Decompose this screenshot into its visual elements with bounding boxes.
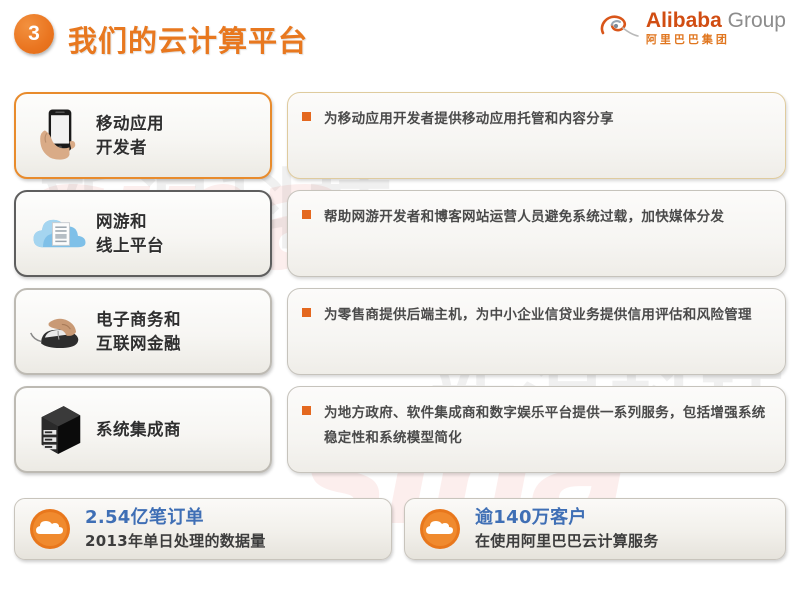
description-text: 为零售商提供后端主机，为中小企业信贷业务提供信用评估和风险管理 [324,303,752,328]
cloud-document-icon [24,198,96,270]
bullet-square-icon [302,112,311,121]
page-title: 我们的云计算平台 [68,18,308,60]
description-card[interactable]: 为地方政府、软件集成商和数字娱乐平台提供一系列服务，包括增强系统稳定性和系统模型… [287,386,786,473]
description-card[interactable]: 为零售商提供后端主机，为中小企业信贷业务提供信用评估和风险管理 [287,288,786,375]
server-rack-icon [24,394,96,466]
segment-row: 网游和 线上平台 帮助网游开发者和博客网站运营人员避免系统过载，加快媒体分发 [0,190,800,285]
category-card-online-games-platforms[interactable]: 网游和 线上平台 [14,190,272,277]
alibaba-group-logo: Alibaba Group 阿里巴巴集团 [597,10,786,45]
category-label: 移动应用 开发者 [96,112,164,160]
brand-name-chinese: 阿里巴巴集团 [646,34,786,45]
category-card-ecommerce-internet-finance[interactable]: 电子商务和 互联网金融 [14,288,272,375]
category-card-mobile-app-developers[interactable]: 移动应用 开发者 [14,92,272,179]
stat-subline: 在使用阿里巴巴云计算服务 [475,532,659,552]
stat-headline: 2.54亿笔订单 [85,507,266,530]
orange-cloud-badge-icon [417,506,463,552]
description-card[interactable]: 为移动应用开发者提供移动应用托管和内容分享 [287,92,786,179]
stat-subline: 2013年单日处理的数据量 [85,532,266,552]
bullet-square-icon [302,308,311,317]
brand-name-secondary: Group [728,9,786,32]
alibaba-swirl-icon [597,11,641,45]
segment-row: 移动应用 开发者 为移动应用开发者提供移动应用托管和内容分享 [0,92,800,187]
category-label: 电子商务和 互联网金融 [96,308,181,356]
description-text: 为移动应用开发者提供移动应用托管和内容分享 [324,107,614,132]
stat-headline: 逾140万客户 [475,507,659,530]
stat-texts: 逾140万客户 在使用阿里巴巴云计算服务 [475,507,659,552]
brand-name-primary: Alibaba [646,9,722,32]
slide-number-badge: 3 [14,14,54,54]
hand-holding-smartphone-icon [24,100,96,172]
segment-row: 电子商务和 互联网金融 为零售商提供后端主机，为中小企业信贷业务提供信用评估和风… [0,288,800,383]
description-text: 为地方政府、软件集成商和数字娱乐平台提供一系列服务，包括增强系统稳定性和系统模型… [324,401,769,451]
orange-cloud-badge-icon [27,506,73,552]
stat-card-orders[interactable]: 2.54亿笔订单 2013年单日处理的数据量 [14,498,392,560]
category-label: 系统集成商 [96,418,181,442]
stat-texts: 2.54亿笔订单 2013年单日处理的数据量 [85,507,266,552]
category-card-system-integrators[interactable]: 系统集成商 [14,386,272,473]
stat-card-customers[interactable]: 逾140万客户 在使用阿里巴巴云计算服务 [404,498,786,560]
segment-rows: 移动应用 开发者 为移动应用开发者提供移动应用托管和内容分享 [0,92,800,484]
slide-page: 3 我们的云计算平台 Alibaba Group 阿里巴巴集团 [0,0,800,600]
bullet-square-icon [302,210,311,219]
slide-header: 3 我们的云计算平台 Alibaba Group 阿里巴巴集团 [0,0,800,68]
brand-wordmark: Alibaba Group 阿里巴巴集团 [646,10,786,45]
description-text: 帮助网游开发者和博客网站运营人员避免系统过载，加快媒体分发 [324,205,724,230]
category-label: 网游和 线上平台 [96,210,164,258]
bullet-square-icon [302,406,311,415]
hand-on-mouse-icon [24,296,96,368]
segment-row: 系统集成商 为地方政府、软件集成商和数字娱乐平台提供一系列服务，包括增强系统稳定… [0,386,800,481]
description-card[interactable]: 帮助网游开发者和博客网站运营人员避免系统过载，加快媒体分发 [287,190,786,277]
